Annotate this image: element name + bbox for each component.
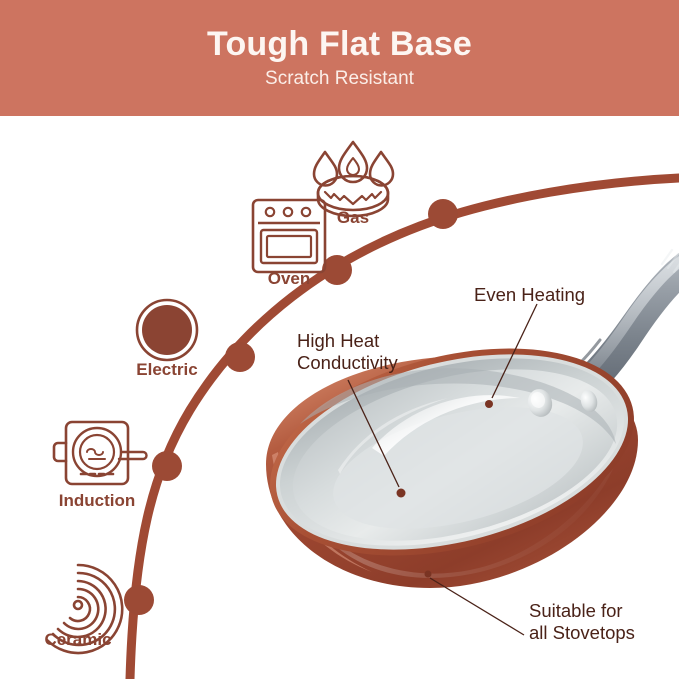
- infographic-canvas: Tough Flat Base Scratch Resistant: [0, 0, 679, 679]
- arc-node-induction: [152, 451, 182, 481]
- stovetop-label-oven: Oven: [268, 269, 311, 289]
- callout-line: Suitable for: [529, 600, 635, 622]
- electric-coil-icon: [137, 300, 197, 360]
- frying-pan: [248, 246, 679, 590]
- callout-line: Even Heating: [474, 284, 585, 306]
- callout-label-even-heating: Even Heating: [474, 284, 585, 306]
- stovetop-label-ceramic: Ceramic: [44, 630, 111, 650]
- callout-label-suitable-all-stovetops: Suitable for all Stovetops: [529, 600, 635, 643]
- arc-node-ceramic: [124, 585, 154, 615]
- arc-node-electric: [225, 342, 255, 372]
- induction-cooktop-icon: [54, 422, 147, 484]
- arc-node-gas: [428, 199, 458, 229]
- stovetop-label-induction: Induction: [59, 491, 135, 511]
- stovetop-label-electric: Electric: [136, 360, 197, 380]
- stovetop-label-gas: Gas: [337, 208, 369, 228]
- callout-line: Conductivity: [297, 352, 398, 374]
- oven-icon: [253, 200, 325, 272]
- arc-node-oven: [322, 255, 352, 285]
- callout-label-high-heat-conductivity: High Heat Conductivity: [297, 330, 398, 373]
- callout-line: High Heat: [297, 330, 398, 352]
- callout-line: all Stovetops: [529, 622, 635, 644]
